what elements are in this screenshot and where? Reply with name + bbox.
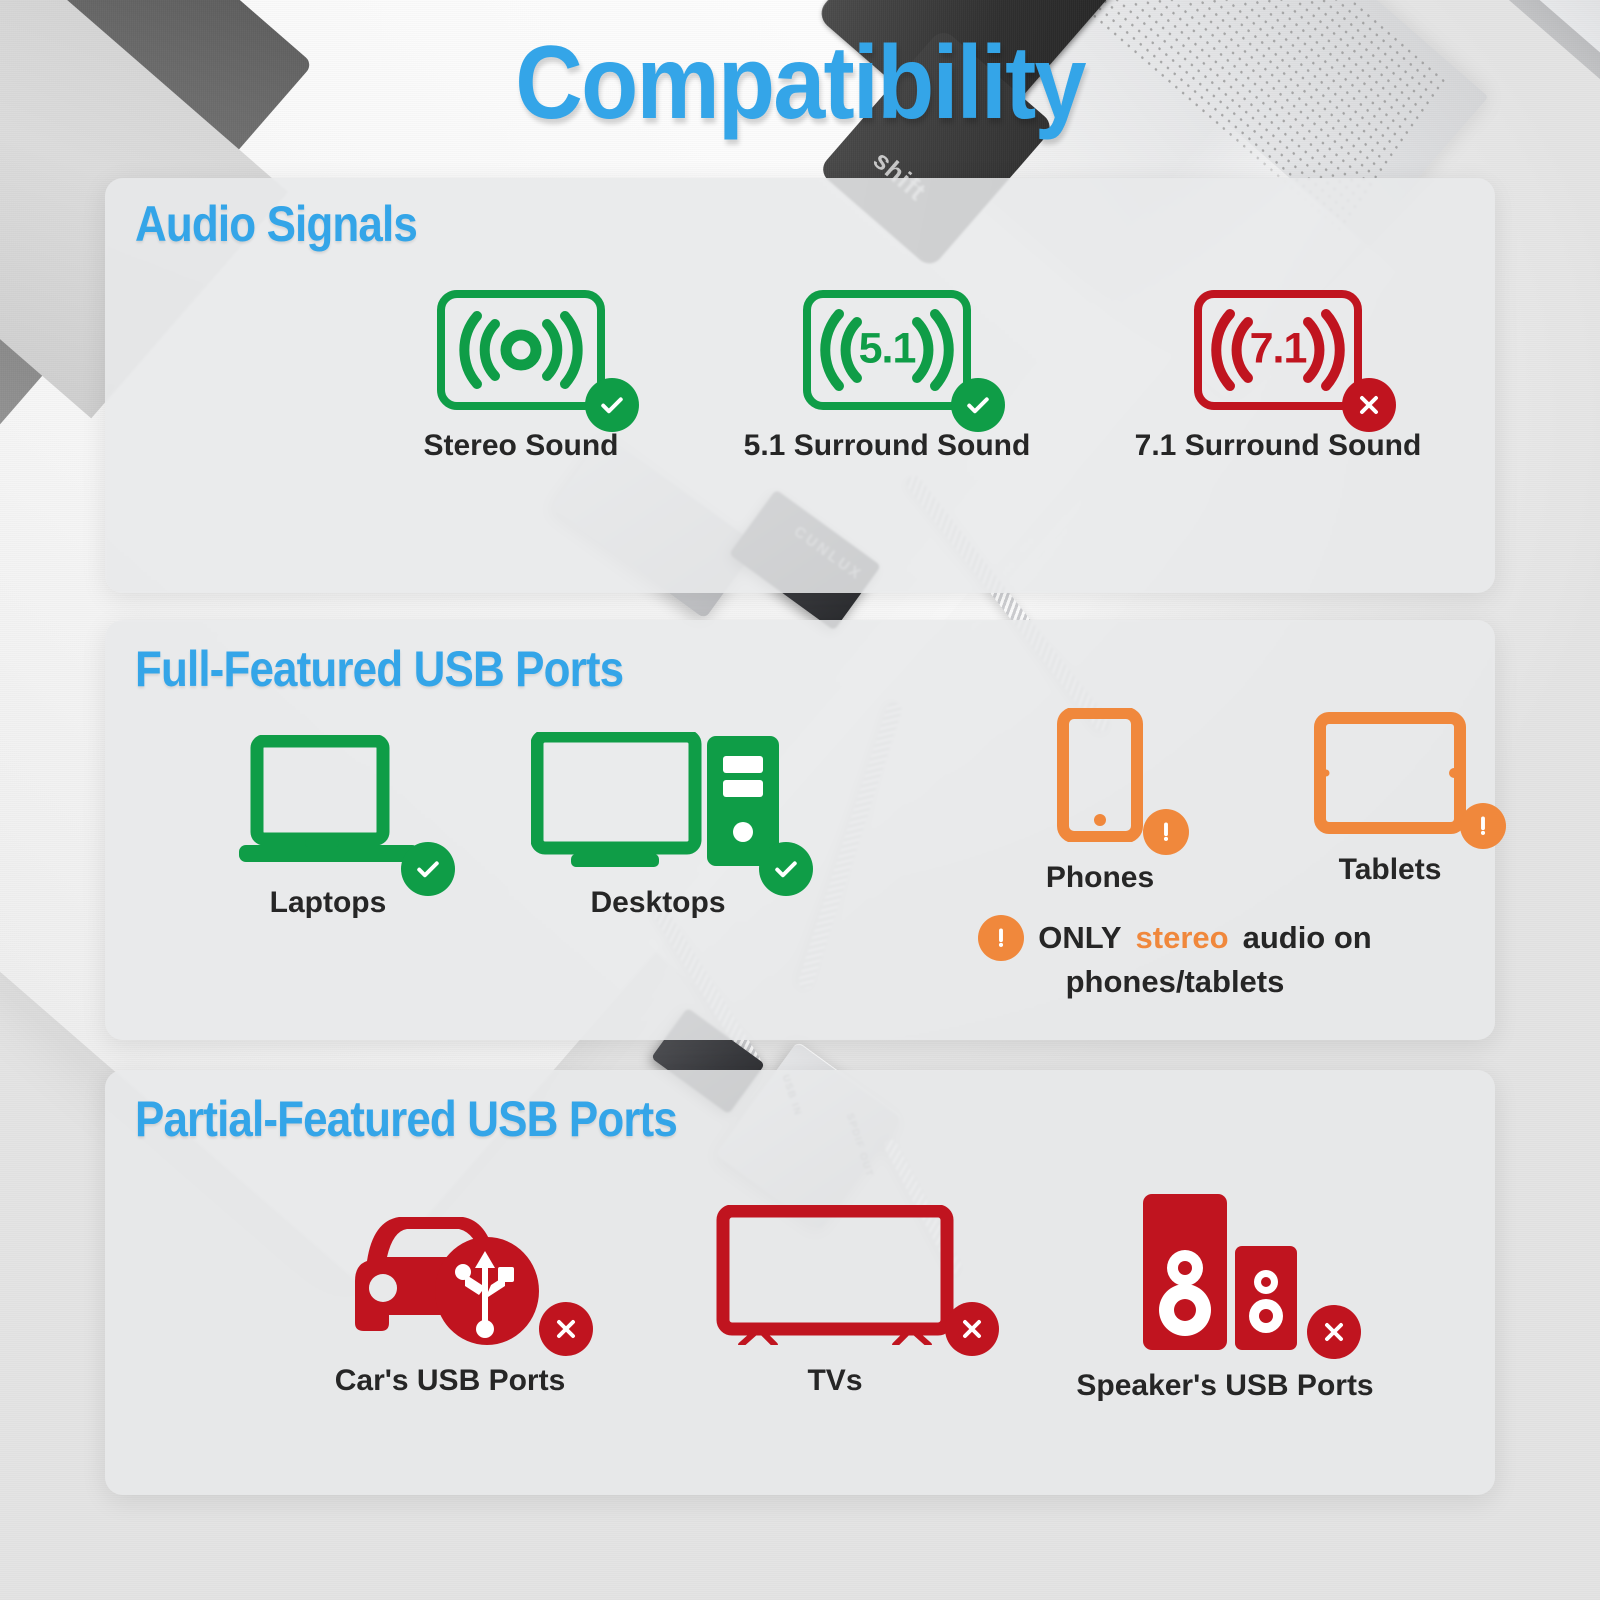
- item-tablets[interactable]: Tablets: [1245, 712, 1535, 887]
- item-label: 5.1 Surround Sound: [717, 429, 1057, 463]
- surround-51-icon-stack: 5.1: [803, 290, 971, 410]
- speaker-wave-7-1-icon: 7.1: [1194, 290, 1362, 410]
- tv-icon-stack: [715, 1205, 955, 1350]
- item-label: Car's USB Ports: [285, 1364, 615, 1398]
- item-label: Stereo Sound: [351, 429, 691, 463]
- item-speakers-usb-ports[interactable]: Speaker's USB Ports: [1005, 1190, 1445, 1403]
- tablet-icon-stack: [1314, 712, 1466, 839]
- item-label: Phones: [965, 861, 1235, 895]
- item-desktops[interactable]: Desktops: [493, 732, 823, 920]
- cross-badge: [539, 1302, 593, 1356]
- cross-badge: [1307, 1305, 1361, 1359]
- item-label: 7.1 Surround Sound: [1108, 429, 1448, 463]
- laptop-icon: [233, 735, 423, 867]
- speaker-wave-5-1-icon: 5.1: [803, 290, 971, 410]
- desktop-icon: [531, 732, 785, 867]
- section-audio-signals: Audio Signals Stereo Sound: [105, 178, 1495, 593]
- car-usb-icon-stack: [335, 1195, 565, 1350]
- item-7-1-surround-sound[interactable]: 7.1 7.1 Surround Sound: [1108, 290, 1448, 463]
- phone-icon: [1057, 708, 1143, 842]
- audio-format-value: 7.1: [1202, 325, 1354, 374]
- item-phones[interactable]: Phones: [965, 708, 1235, 895]
- warning-badge: [978, 915, 1024, 961]
- laptop-icon-stack: [233, 735, 423, 872]
- check-badge: [951, 378, 1005, 432]
- speakers-icon-stack: [1137, 1190, 1313, 1355]
- cross-badge: [1342, 378, 1396, 432]
- item-label: TVs: [675, 1364, 995, 1398]
- stereo-icon-stack: [437, 290, 605, 410]
- check-badge: [759, 842, 813, 896]
- speaker-wave-icon: [437, 290, 605, 410]
- section-title-full-featured-usb-ports: Full-Featured USB Ports: [135, 640, 623, 698]
- warning-badge: [1460, 803, 1506, 849]
- car-usb-icon: [335, 1195, 565, 1345]
- desktop-icon-stack: [531, 732, 785, 872]
- item-laptops[interactable]: Laptops: [183, 735, 473, 920]
- section-partial-featured-usb-ports: Partial-Featured USB Ports: [105, 1070, 1495, 1495]
- audio-format-value: 5.1: [811, 325, 963, 374]
- surround-71-icon-stack: 7.1: [1194, 290, 1362, 410]
- cross-badge: [945, 1302, 999, 1356]
- item-cars-usb-ports[interactable]: Car's USB Ports: [285, 1195, 615, 1398]
- warning-badge: [1143, 809, 1189, 855]
- stereo-only-note: ONLY stereo audio on phones/tablets: [895, 915, 1455, 1002]
- tablet-icon: [1314, 712, 1466, 834]
- note-text-part2: audio on: [1243, 917, 1372, 958]
- page-title: Compatibility: [80, 24, 1520, 143]
- note-line-2: phones/tablets: [895, 961, 1455, 1002]
- phone-icon-stack: [1057, 708, 1143, 847]
- item-5-1-surround-sound[interactable]: 5.1 5.1 Surround Sound: [717, 290, 1057, 463]
- check-badge: [401, 842, 455, 896]
- note-text-part1: ONLY: [1038, 917, 1121, 958]
- section-full-featured-usb-ports: Full-Featured USB Ports Laptops: [105, 620, 1495, 1040]
- note-line-1: ONLY stereo audio on: [895, 915, 1455, 961]
- item-label: Tablets: [1245, 853, 1535, 887]
- tv-icon: [715, 1205, 955, 1345]
- speakers-icon: [1137, 1190, 1313, 1350]
- item-stereo-sound[interactable]: Stereo Sound: [351, 290, 691, 463]
- item-label: Speaker's USB Ports: [1005, 1369, 1445, 1403]
- section-title-partial-featured-usb-ports: Partial-Featured USB Ports: [135, 1090, 677, 1148]
- check-badge: [585, 378, 639, 432]
- note-text-highlight: stereo: [1136, 917, 1229, 958]
- item-tvs[interactable]: TVs: [675, 1205, 995, 1398]
- section-title-audio-signals: Audio Signals: [135, 195, 417, 253]
